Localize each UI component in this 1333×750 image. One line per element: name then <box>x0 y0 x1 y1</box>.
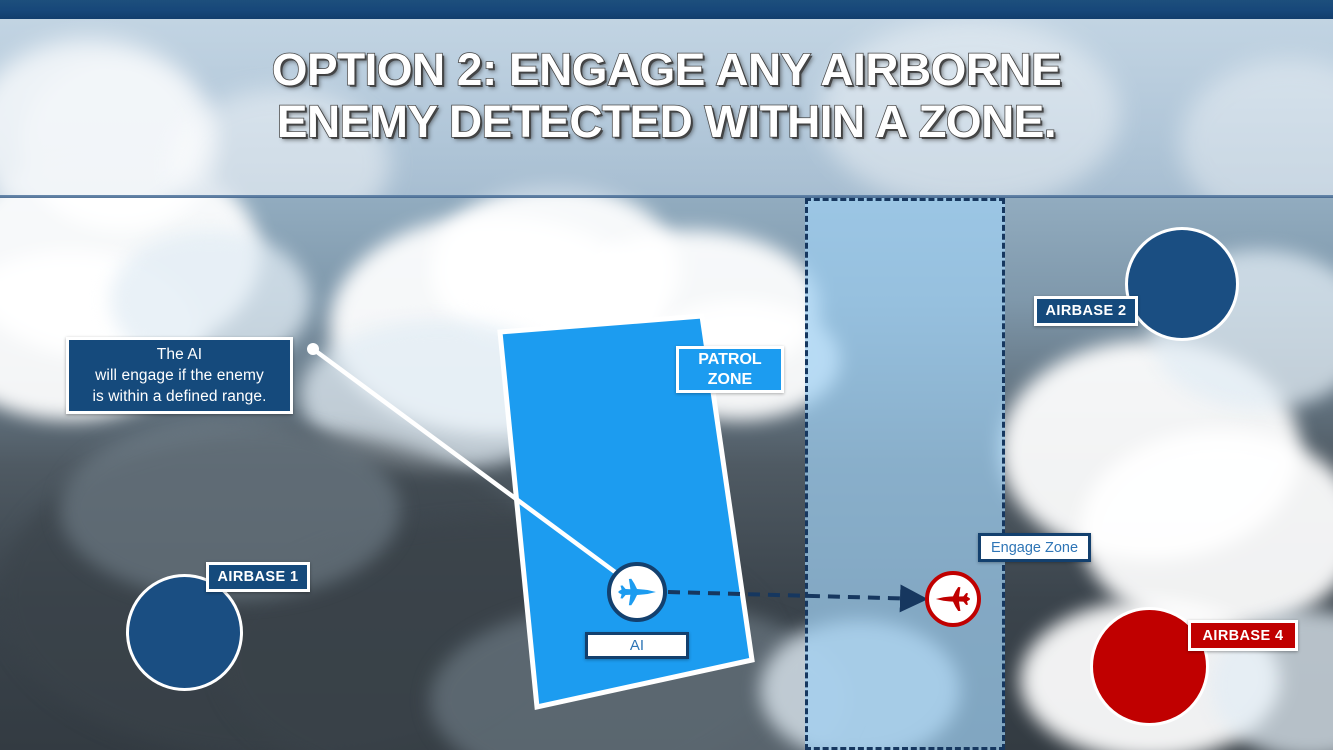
ai-engagement-note: The AI will engage if the enemy is withi… <box>66 337 293 414</box>
airbase-2-label: AIRBASE 2 <box>1034 296 1138 326</box>
airbase-2-marker[interactable] <box>1125 227 1239 341</box>
fighter-jet-icon <box>933 579 973 619</box>
engage-zone-label: Engage Zone <box>978 533 1091 562</box>
slide-canvas: OPTION 2: ENGAGE ANY AIRBORNE ENEMY DETE… <box>0 0 1333 750</box>
enemy-aircraft-marker[interactable] <box>925 571 981 627</box>
ai-aircraft-marker[interactable] <box>607 562 667 622</box>
fighter-jet-icon <box>615 570 659 614</box>
patrol-zone-label: PATROL ZONE <box>676 346 784 393</box>
airbase-1-label: AIRBASE 1 <box>206 562 310 592</box>
airbase-4-label: AIRBASE 4 <box>1188 620 1298 651</box>
ai-unit-label: AI <box>585 632 689 659</box>
